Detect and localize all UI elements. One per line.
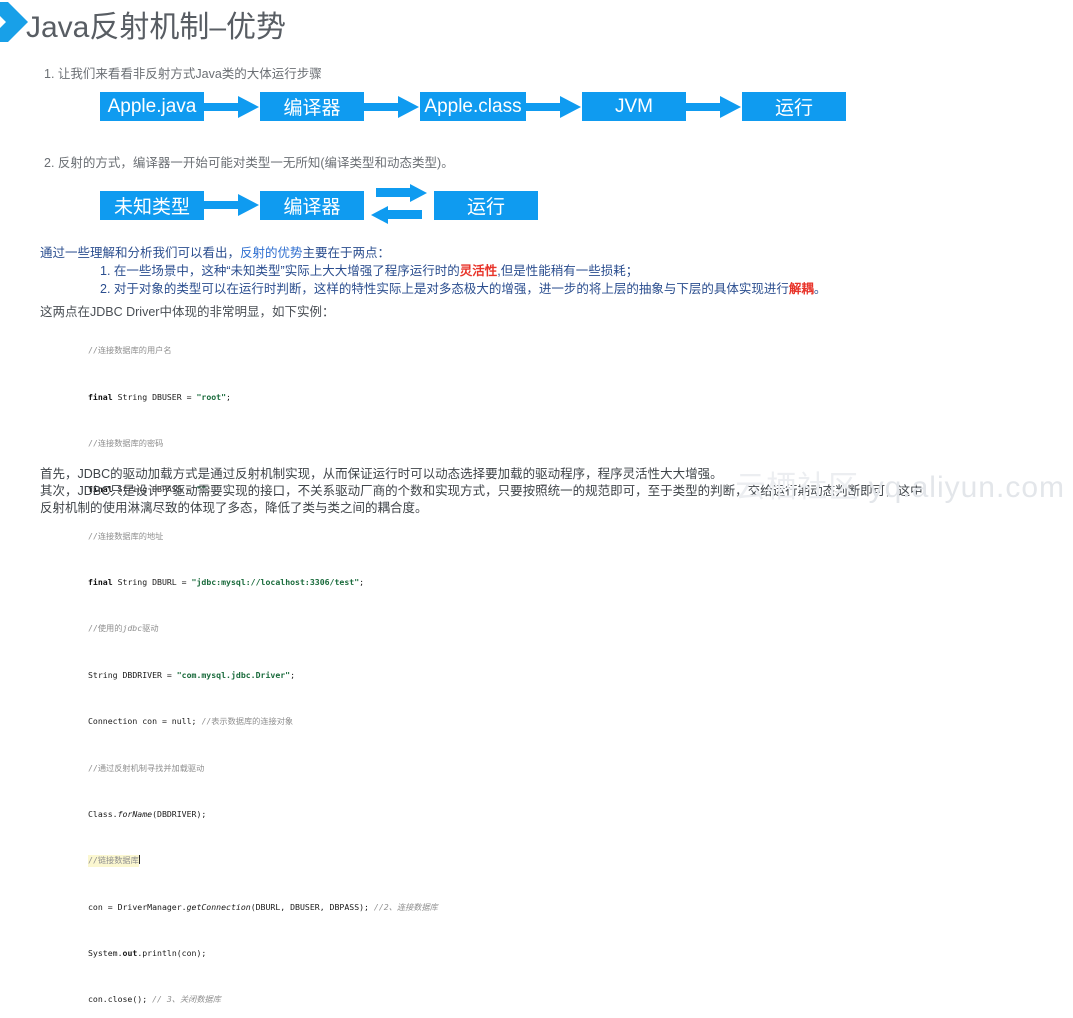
code-line: con.close(); // 3、关闭数据库: [88, 994, 608, 1006]
list-item-accent: 灵活性: [460, 264, 498, 278]
code-line: System.out.println(con);: [88, 948, 608, 960]
code-text: System.: [88, 948, 123, 958]
analysis-list: 1. 在一些场景中，这种“未知类型”实际上大大增强了程序运行时的灵活性,但是性能…: [40, 262, 826, 298]
code-comment: //连接数据库的用户名: [88, 345, 172, 355]
code-text: String DBUSER =: [113, 392, 197, 402]
list-item-accent: 解耦: [789, 282, 814, 296]
code-comment: //2、连接数据库: [374, 902, 438, 912]
code-text: Connection con = null;: [88, 716, 201, 726]
step-2-label: 2. 反射的方式，编译器一开始可能对类型一无所知(编译类型和动态类型)。: [44, 152, 454, 171]
code-keyword: final: [88, 392, 113, 402]
code-line: Connection con = null; //表示数据库的连接对象: [88, 716, 608, 728]
code-line: //连接数据库的用户名: [88, 345, 608, 357]
code-line: //使用的jdbc驱动: [88, 623, 608, 635]
flow-box: 编译器: [260, 191, 364, 220]
code-text: ;: [290, 670, 295, 680]
analysis-intro-b: 主要在于两点：: [303, 246, 391, 260]
code-text: (DBURL, DBUSER, DBPASS);: [251, 902, 374, 912]
step-1-label: 1. 让我们来看看非反射方式Java类的大体运行步骤: [44, 63, 322, 82]
code-line: //连接数据库的地址: [88, 531, 608, 543]
code-block[interactable]: //连接数据库的用户名 final String DBUSER = "root"…: [88, 322, 608, 1018]
arrow-right-icon: [364, 95, 420, 119]
code-comment: // 3、关闭数据库: [152, 994, 221, 1004]
code-line: Class.forName(DBDRIVER);: [88, 809, 608, 821]
flow-diagram-non-reflective: Apple.java 编译器 Apple.class JVM 运行: [100, 92, 846, 121]
footer-paragraph: 首先，JDBC的驱动加载方式是通过反射机制实现，从而保证运行时可以动态选择要加载…: [40, 466, 723, 483]
code-line: con = DriverManager.getConnection(DBURL,…: [88, 902, 608, 914]
code-string: "root": [196, 392, 226, 402]
code-comment: //连接数据库的地址: [88, 531, 163, 541]
flow-box: Apple.class: [420, 92, 526, 121]
code-line: String DBDRIVER = "com.mysql.jdbc.Driver…: [88, 670, 608, 682]
code-text: ;: [226, 392, 231, 402]
list-item-suffix: 。: [814, 282, 827, 296]
code-comment: //使用的: [88, 623, 122, 633]
list-item: 2. 对于对象的类型可以在运行时判断，这样的特性实际上是对多态极大的增强，进一步…: [100, 280, 826, 298]
text-caret: [139, 855, 140, 864]
analysis-block: 通过一些理解和分析我们可以看出，反射的优势主要在于两点： 1. 在一些场景中，这…: [40, 244, 826, 298]
analysis-intro: 通过一些理解和分析我们可以看出，反射的优势主要在于两点：: [40, 244, 826, 262]
arrow-right-icon: [204, 193, 260, 217]
footer-paragraph: 其次，JDBC只是设计了驱动需要实现的接口，不关系驱动厂商的个数和实现方式，只要…: [40, 483, 923, 500]
code-member: out: [123, 948, 138, 958]
code-comment: 驱动: [142, 623, 158, 633]
code-line-highlighted[interactable]: //链接数据库: [88, 855, 608, 867]
page-header: Java反射机制–优势: [0, 0, 1073, 48]
list-item-prefix: 2. 对于对象的类型可以在运行时判断，这样的特性实际上是对多态极大的增强，进一步…: [100, 282, 789, 296]
analysis-intro-link: 反射的优势: [240, 246, 303, 260]
code-comment: //通过反射机制寻找并加载驱动: [88, 763, 204, 773]
code-text: .println(con);: [137, 948, 206, 958]
code-text: ;: [359, 577, 364, 587]
code-line: final String DBUSER = "root";: [88, 392, 608, 404]
flow-box: Apple.java: [100, 92, 204, 121]
code-line: //连接数据库的密码: [88, 438, 608, 450]
analysis-intro-a: 通过一些理解和分析我们可以看出，: [40, 246, 240, 260]
arrow-right-icon: [686, 95, 742, 119]
code-comment: //表示数据库的连接对象: [201, 716, 293, 726]
list-item-prefix: 1. 在一些场景中，这种“未知类型”实际上大大增强了程序运行时的: [100, 264, 460, 278]
code-line: final String DBURL = "jdbc:mysql://local…: [88, 577, 608, 589]
arrow-bidirectional-icon: [370, 184, 428, 226]
page-title: Java反射机制–优势: [26, 2, 286, 46]
code-text: String DBDRIVER =: [88, 670, 177, 680]
arrow-right-icon: [526, 95, 582, 119]
list-item-suffix: ,但是性能稍有一些损耗；: [497, 264, 638, 278]
code-string: "com.mysql.jdbc.Driver": [177, 670, 290, 680]
flow-box: JVM: [582, 92, 686, 121]
arrow-right-icon: [204, 95, 260, 119]
code-method: getConnection: [187, 902, 251, 912]
code-comment: //连接数据库的密码: [88, 438, 163, 448]
flow-box: 运行: [742, 92, 846, 121]
code-method: forName: [118, 809, 153, 819]
code-keyword: final: [88, 577, 113, 587]
flow-box: 编译器: [260, 92, 364, 121]
code-text: Class.: [88, 809, 118, 819]
code-comment-italic: jdbc: [122, 623, 142, 633]
code-comment-highlighted: //链接数据库: [88, 855, 139, 867]
code-text: String DBURL =: [113, 577, 192, 587]
analysis-lead: 这两点在JDBC Driver中体现的非常明显，如下实例：: [40, 301, 334, 320]
code-text: con.close();: [88, 994, 152, 1004]
flow-diagram-reflective: 未知类型 编译器 运行: [100, 184, 538, 226]
code-text: con = DriverManager.: [88, 902, 187, 912]
code-line: //通过反射机制寻找并加载驱动: [88, 763, 608, 775]
flow-box: 运行: [434, 191, 538, 220]
code-string: "jdbc:mysql://localhost:3306/test": [192, 577, 360, 587]
flow-box: 未知类型: [100, 191, 204, 220]
footer-paragraph: 反射机制的使用淋漓尽致的体现了多态，降低了类与类之间的耦合度。: [40, 500, 428, 517]
list-item: 1. 在一些场景中，这种“未知类型”实际上大大增强了程序运行时的灵活性,但是性能…: [100, 262, 826, 280]
code-text: (DBDRIVER);: [152, 809, 206, 819]
